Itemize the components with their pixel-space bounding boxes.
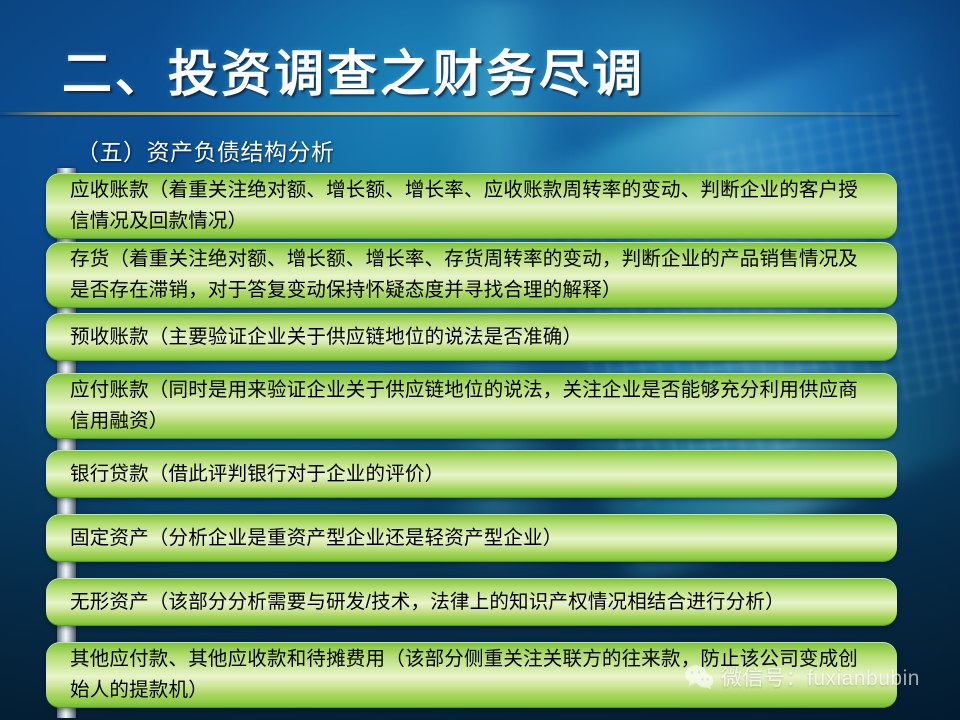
content-box-bank-loans: 银行贷款（借此评判银行对于企业的评价） — [46, 450, 897, 498]
content-box-text: 应收账款（着重关注绝对额、增长额、增长率、应收账款周转率的变动、判断企业的客户授… — [70, 175, 877, 237]
content-box-list: 应收账款（着重关注绝对额、增长额、增长率、应收账款周转率的变动、判断企业的客户授… — [0, 0, 960, 720]
content-box-text: 预收账款（主要验证企业关于供应链地位的说法是否准确） — [70, 322, 877, 353]
content-box-text: 其他应付款、其他应收款和待摊费用（该部分侧重关注关联方的往来款，防止该公司变成创… — [70, 644, 877, 706]
content-box-intangible-assets: 无形资产（该部分分析需要与研发/技术，法律上的知识产权情况相结合进行分析） — [46, 578, 897, 626]
content-box-text: 无形资产（该部分分析需要与研发/技术，法律上的知识产权情况相结合进行分析） — [70, 587, 877, 618]
content-box-text: 固定资产（分析企业是重资产型企业还是轻资产型企业） — [70, 523, 877, 554]
content-box-other-payables-receivables: 其他应付款、其他应收款和待摊费用（该部分侧重关注关联方的往来款，防止该公司变成创… — [46, 642, 897, 708]
slide-root: 二、投资调查之财务尽调 （五）资产负债结构分析 应收账款（着重关注绝对额、增长额… — [0, 0, 960, 720]
content-box-accounts-receivable: 应收账款（着重关注绝对额、增长额、增长率、应收账款周转率的变动、判断企业的客户授… — [46, 173, 897, 239]
content-box-advances-from-customers: 预收账款（主要验证企业关于供应链地位的说法是否准确） — [46, 313, 897, 361]
content-box-accounts-payable: 应付账款（同时是用来验证企业关于供应链地位的说法，关注企业是否能够充分利用供应商… — [46, 373, 897, 439]
content-box-text: 银行贷款（借此评判银行对于企业的评价） — [70, 459, 877, 490]
content-box-inventory: 存货（着重关注绝对额、增长额、增长率、存货周转率的变动，判断企业的产品销售情况及… — [46, 242, 897, 308]
content-box-text: 存货（着重关注绝对额、增长额、增长率、存货周转率的变动，判断企业的产品销售情况及… — [70, 244, 877, 306]
content-box-fixed-assets: 固定资产（分析企业是重资产型企业还是轻资产型企业） — [46, 514, 897, 562]
content-box-text: 应付账款（同时是用来验证企业关于供应链地位的说法，关注企业是否能够充分利用供应商… — [70, 375, 877, 437]
